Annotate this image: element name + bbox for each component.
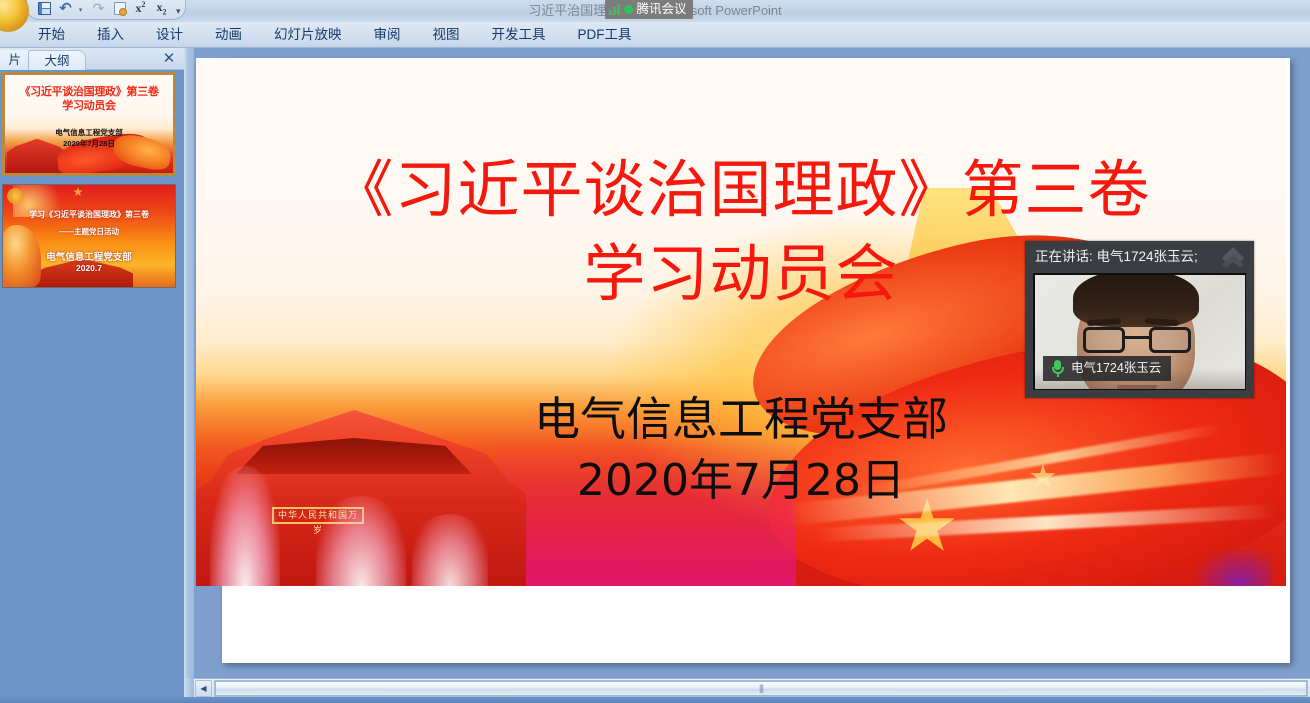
save-icon (38, 2, 51, 15)
tab-outline[interactable]: 大纲 (28, 50, 86, 70)
subscript-button[interactable]: x2 (152, 0, 171, 17)
slide-thumbnail-1[interactable]: 《习近平谈治国理政》第三卷学习动员会 电气信息工程党支部2020年7月28日 (2, 72, 176, 176)
title-bar: 习近平治国理政.pptx - Microsoft PowerPoint 腾讯会议 (0, 0, 1310, 22)
print-preview-button[interactable] (110, 0, 129, 17)
ribbon-tab-bar: 开始 插入 设计 动画 幻灯片放映 审阅 视图 开发工具 PDF工具 (0, 22, 1310, 48)
tab-review[interactable]: 审阅 (358, 22, 417, 48)
print-preview-icon (114, 2, 126, 15)
horizontal-scrollbar[interactable]: ◀ ||| (194, 678, 1310, 697)
tab-pdf-tools[interactable]: PDF工具 (562, 22, 648, 48)
thumb2-emblem-art (7, 188, 23, 204)
tab-view[interactable]: 视图 (417, 22, 476, 48)
tab-design[interactable]: 设计 (140, 22, 199, 48)
lens-right (1149, 327, 1191, 353)
lens-left (1083, 327, 1125, 353)
scrollbar-track[interactable]: ||| (214, 680, 1308, 697)
tab-slideshow[interactable]: 幻灯片放映 (258, 22, 358, 48)
slide-title-line-1: 《习近平谈治国理政》第三卷 (196, 148, 1286, 232)
subscript-icon: x2 (157, 0, 167, 16)
window-bottom-edge (0, 697, 1310, 703)
left-pane-footer (0, 678, 184, 697)
tab-home[interactable]: 开始 (22, 22, 81, 48)
scroll-left-button[interactable]: ◀ (195, 680, 212, 697)
slide-violet-art (1192, 546, 1272, 586)
chevron-up-icon[interactable] (1220, 244, 1246, 268)
tab-animation[interactable]: 动画 (199, 22, 258, 48)
scrollbar-grip: ||| (759, 683, 763, 693)
pane-splitter[interactable] (184, 48, 194, 678)
slide-thumbnail-pane: 片 大纲 ✕ 《习近平谈治国理政》第三卷学习动员会 电气信息工程党支部2020年… (0, 48, 184, 678)
chevron-down-icon: ▾ (79, 6, 83, 17)
speaking-label: 正在讲话: 电气1724张玉云; (1035, 248, 1198, 266)
participant-name-bar: 电气1724张玉云 (1043, 356, 1171, 381)
slide-fountain-art-c (412, 514, 488, 586)
thumb2-subtitle: ——主题党日活动 (3, 226, 175, 237)
undo-dropdown-button[interactable]: ▾ (77, 0, 87, 17)
scrollbar-thumb[interactable]: ||| (215, 681, 1307, 696)
thumb2-org: 电气信息工程党支部 (3, 249, 175, 263)
customize-qat-button[interactable]: ▾ (176, 6, 181, 17)
glasses-art (1083, 327, 1191, 353)
slide-subtitle-textbox[interactable]: 电气信息工程党支部 2020年7月28日 (196, 388, 1286, 512)
pane-tab-bar: 片 大纲 ✕ (0, 48, 184, 70)
thumb2-date: 2020.7 (3, 263, 175, 273)
save-button[interactable] (35, 0, 54, 17)
undo-button[interactable]: ↶ (56, 0, 75, 17)
quick-access-toolbar: ↶ ▾ ↷ x2 x2 ▾ (26, 0, 186, 20)
redo-icon: ↷ (93, 0, 105, 17)
thumb1-subtitle: 电气信息工程党支部2020年7月28日 (5, 127, 173, 149)
tab-developer[interactable]: 开发工具 (476, 22, 562, 48)
superscript-button[interactable]: x2 (131, 0, 150, 17)
video-frame: 电气1724张玉云 (1033, 273, 1246, 390)
participant-name: 电气1724张玉云 (1071, 356, 1161, 381)
redo-button[interactable]: ↷ (89, 0, 108, 17)
slide-thumbnail-2[interactable]: 学习《习近平谈治国理政》第三卷 ——主题党日活动 电气信息工程党支部 2020.… (2, 184, 176, 288)
green-dot-icon (624, 5, 633, 14)
thumb1-title: 《习近平谈治国理政》第三卷学习动员会 (5, 85, 173, 113)
tab-slides[interactable]: 片 (0, 50, 30, 70)
superscript-icon: x2 (136, 0, 146, 16)
powerpoint-window: 习近平治国理政.pptx - Microsoft PowerPoint 腾讯会议… (0, 0, 1310, 703)
glasses-bridge (1125, 336, 1149, 339)
ribbon-tabs: 开始 插入 设计 动画 幻灯片放映 审阅 视图 开发工具 PDF工具 (22, 22, 648, 48)
meeting-video-overlay[interactable]: 正在讲话: 电气1724张玉云; (1025, 241, 1254, 398)
thumb2-title: 学习《习近平谈治国理政》第三卷 (3, 209, 175, 220)
slide-subtitle-line-2: 2020年7月28日 (196, 450, 1286, 512)
video-overlay-header: 正在讲话: 电气1724张玉云; (1025, 241, 1254, 273)
chevron-up-glyph (1220, 244, 1246, 268)
tencent-meeting-badge[interactable]: 腾讯会议 (605, 0, 693, 19)
thumbnail-list: 《习近平谈治国理政》第三卷学习动员会 电气信息工程党支部2020年7月28日 学… (2, 72, 176, 296)
signal-bars-icon (609, 4, 620, 15)
meeting-badge-label: 腾讯会议 (637, 0, 687, 19)
undo-icon: ↶ (59, 0, 72, 17)
microphone-icon (1051, 360, 1064, 377)
close-pane-button[interactable]: ✕ (160, 50, 178, 68)
pane-splitter-footer (184, 678, 194, 697)
tab-insert[interactable]: 插入 (81, 22, 140, 48)
